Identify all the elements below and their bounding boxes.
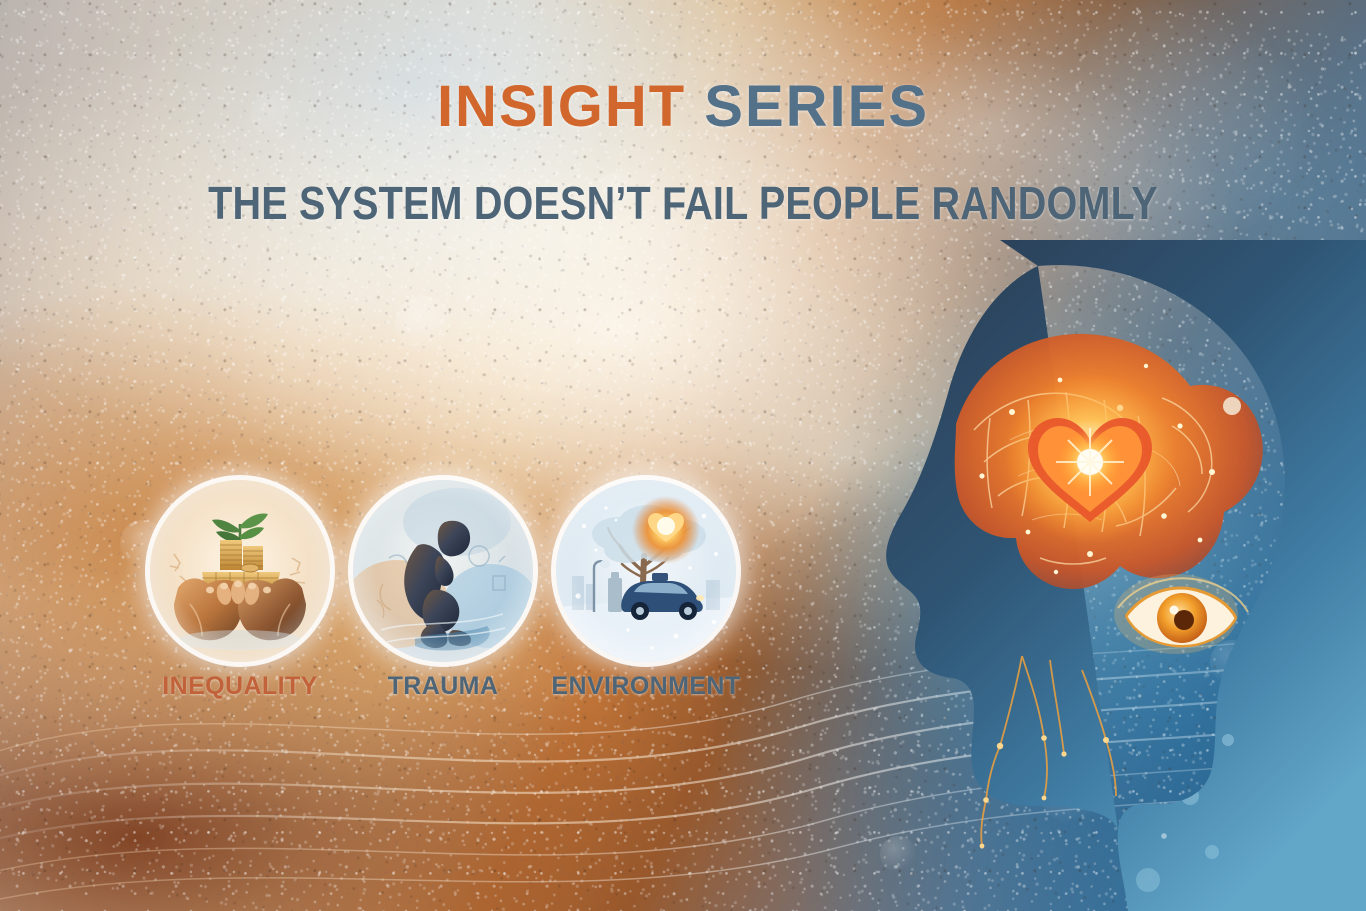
head-profile-with-glowing-brain	[760, 240, 1366, 911]
headline-word-insight: INSIGHT	[437, 74, 686, 139]
pillar-label-inequality: INEQUALITY	[162, 672, 317, 701]
hands-holding-coins-with-sprout-icon	[150, 480, 330, 662]
pillar-icon-disc-trauma	[353, 480, 533, 662]
crouching-figure-icon	[353, 480, 533, 662]
pillar-label-trauma: TRAUMA	[388, 672, 499, 701]
snowy-street-with-car-and-tree-icon	[556, 480, 736, 662]
headline-word-series: SERIES	[704, 74, 929, 139]
pillar-environment[interactable]: ENVIRONMENT	[556, 480, 736, 662]
pillar-group: INEQUALITY	[150, 480, 775, 715]
poster-canvas: INSIGHT SERIES THE SYSTEM DOESN’T FAIL P…	[0, 0, 1366, 911]
glowing-heart	[1004, 372, 1176, 544]
pillar-icon-disc-environment	[556, 480, 736, 662]
pillar-inequality[interactable]: INEQUALITY	[150, 480, 330, 662]
pillar-trauma[interactable]: TRAUMA	[353, 480, 533, 662]
pillar-label-environment: ENVIRONMENT	[551, 672, 740, 701]
pillar-icon-disc-inequality	[150, 480, 330, 662]
subheadline: THE SYSTEM DOESN’T FAIL PEOPLE RANDOMLY	[96, 180, 1271, 226]
headline: INSIGHT SERIES	[0, 78, 1366, 136]
head-brain-illustration	[760, 240, 1366, 911]
pale-dot	[1223, 397, 1241, 415]
